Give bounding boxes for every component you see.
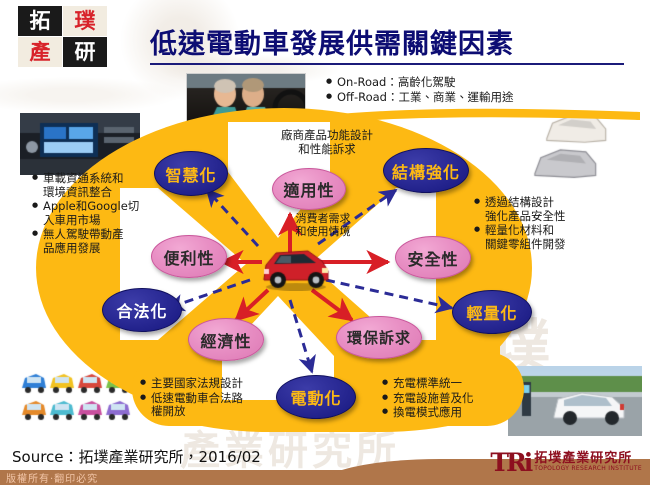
node-safety[interactable]: 安全性 bbox=[395, 236, 471, 279]
slide-canvas: TRi 拓墣 產業研究所 拓 璞 產 研 低速電動車發展供需關鍵因素 On-Ro… bbox=[0, 0, 650, 485]
node-eco-label: 環保訴求 bbox=[347, 327, 411, 348]
right-note-l0: 透過結構設計 bbox=[485, 195, 554, 209]
bottom-right-note-item: 換電模式應用 bbox=[382, 406, 512, 420]
node-electric-label: 電動化 bbox=[290, 385, 341, 409]
node-safety-label: 安全性 bbox=[407, 246, 458, 270]
left-note-l4: 無人駕駛帶動產 bbox=[43, 227, 124, 241]
node-electric[interactable]: 電動化 bbox=[276, 375, 356, 419]
brand-cn: 拓墣產業研究所 bbox=[534, 452, 642, 466]
node-suitability-label: 適用性 bbox=[283, 177, 334, 201]
left-note-item: 車載資通系統和環境資訊整合 bbox=[32, 172, 168, 199]
node-legalization-label: 合法化 bbox=[116, 298, 167, 322]
demand-caption: 消費者需求 和使用情境 bbox=[268, 212, 378, 239]
node-lightweight[interactable]: 輕量化 bbox=[452, 290, 532, 334]
left-note-item: Apple和Google切入車用市場 bbox=[32, 200, 168, 227]
left-note-l0: 車載資通系統和 bbox=[43, 171, 124, 185]
bl-note-l1: 低速電動車合法路 bbox=[151, 391, 243, 405]
left-note-l2: Apple和Google切 bbox=[43, 199, 139, 213]
node-suitability[interactable]: 適用性 bbox=[272, 168, 346, 210]
node-lightweight-label: 輕量化 bbox=[466, 300, 517, 324]
left-note-l1: 環境資訊整合 bbox=[43, 185, 112, 199]
supply-caption: 廠商產品功能設計 和性能訴求 bbox=[242, 128, 412, 157]
bottom-right-notes: 充電標準統一 充電設施普及化 換電模式應用 bbox=[382, 377, 512, 421]
bl-note-l2: 權開放 bbox=[151, 404, 186, 418]
footer-brand: TRi 拓墣產業研究所 TOPOLOGY RESEARCH INSTITUTE bbox=[490, 449, 642, 475]
right-note-l2: 輕量化材料和 bbox=[485, 223, 554, 237]
copyright-note: 版權所有‧翻印必究 bbox=[6, 470, 98, 485]
bottom-right-note-item: 充電設施普及化 bbox=[382, 392, 512, 406]
node-economy-label: 經濟性 bbox=[200, 328, 251, 352]
right-note-item: 透過結構設計強化產品安全性 bbox=[474, 196, 624, 223]
right-note-item: 輕量化材料和關鍵零組件開發 bbox=[474, 224, 624, 251]
center-electric-car-icon bbox=[258, 243, 334, 291]
right-notes: 透過結構設計強化產品安全性 輕量化材料和關鍵零組件開發 bbox=[474, 196, 624, 252]
node-legalization[interactable]: 合法化 bbox=[102, 288, 182, 332]
left-note-item: 無人駕駛帶動產品應用發展 bbox=[32, 228, 168, 255]
demand-caption-line2: 和使用情境 bbox=[268, 225, 378, 238]
node-structure[interactable]: 結構強化 bbox=[383, 148, 469, 193]
supply-caption-line2: 和性能訴求 bbox=[242, 142, 412, 156]
bottom-left-note-item: 主要國家法規設計 bbox=[140, 377, 280, 391]
right-note-l1: 強化產品安全性 bbox=[485, 209, 566, 223]
node-convenience-label: 便利性 bbox=[163, 245, 214, 269]
left-note-l5: 品應用發展 bbox=[43, 241, 101, 255]
demand-caption-line1: 消費者需求 bbox=[268, 212, 378, 225]
bottom-left-notes: 主要國家法規設計 低速電動車合法路權開放 bbox=[140, 377, 280, 420]
right-note-l3: 關鍵零組件開發 bbox=[485, 237, 566, 251]
brand-mark: TRi bbox=[490, 448, 530, 477]
node-structure-label: 結構強化 bbox=[392, 159, 460, 183]
supply-caption-line1: 廠商產品功能設計 bbox=[242, 128, 412, 142]
left-note-l3: 入車用市場 bbox=[43, 213, 101, 227]
node-eco[interactable]: 環保訴求 bbox=[336, 316, 422, 359]
node-smart-label: 智慧化 bbox=[165, 162, 216, 186]
left-notes: 車載資通系統和環境資訊整合 Apple和Google切入車用市場 無人駕駛帶動產… bbox=[32, 172, 168, 256]
node-economy[interactable]: 經濟性 bbox=[188, 318, 264, 361]
source-line: Source：拓墣產業研究所，2016/02 bbox=[12, 446, 261, 467]
bottom-left-note-item: 低速電動車合法路權開放 bbox=[140, 392, 280, 419]
brand-en: TOPOLOGY RESEARCH INSTITUTE bbox=[534, 466, 642, 473]
bottom-right-note-item: 充電標準統一 bbox=[382, 377, 512, 391]
